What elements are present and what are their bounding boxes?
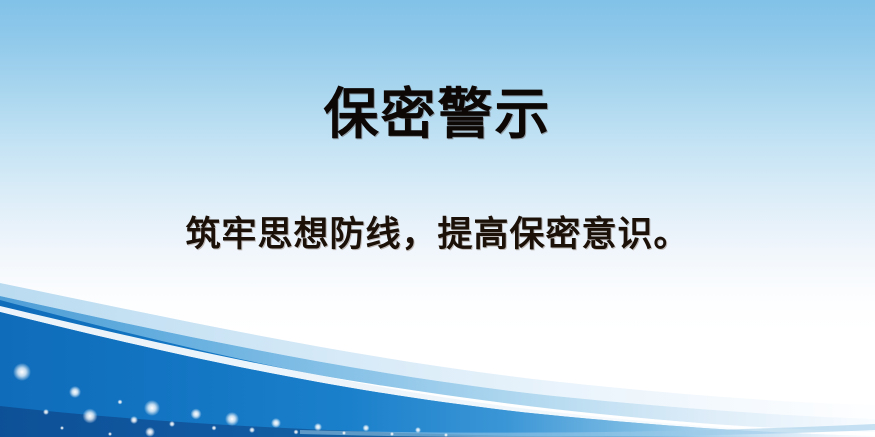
page-title: 保密警示 [0,83,875,145]
text-layer: 保密警示 筑牢思想防线，提高保密意识。 [0,0,875,437]
slide-canvas: 保密警示 筑牢思想防线，提高保密意识。 [0,0,875,437]
page-subtitle: 筑牢思想防线，提高保密意识。 [0,213,875,257]
